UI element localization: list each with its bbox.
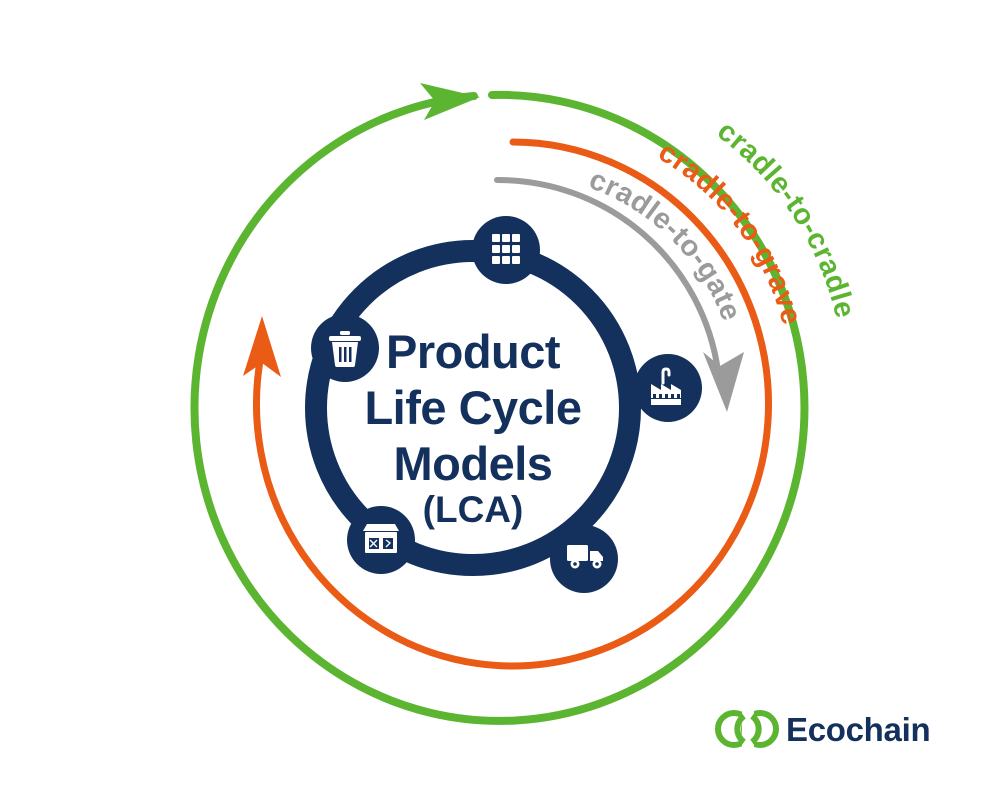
stage-end-of-life[interactable] <box>311 314 379 382</box>
manufacturing-node[interactable] <box>634 354 702 422</box>
center-line-1: Product <box>386 325 561 378</box>
stage-raw-materials[interactable] <box>472 216 540 284</box>
cradle-to-gate-arrowhead <box>703 352 744 412</box>
center-line-3: Models <box>394 437 553 490</box>
ecochain-wordmark: Ecochain <box>786 711 930 748</box>
stage-retail-use[interactable] <box>347 506 415 574</box>
center-line-2: Life Cycle <box>364 381 581 434</box>
ecochain-logo: Ecochain <box>718 711 930 748</box>
shop-icon <box>363 524 399 553</box>
product-life-cycle-models-diagram: Product Life Cycle Models (LCA) cradle-t… <box>0 0 1000 800</box>
grid-icon <box>492 234 520 264</box>
stage-manufacturing[interactable] <box>634 354 702 422</box>
center-label-group: Product Life Cycle Models (LCA) <box>364 325 581 530</box>
center-line-4: (LCA) <box>423 489 524 530</box>
stage-distribution[interactable] <box>550 525 618 593</box>
